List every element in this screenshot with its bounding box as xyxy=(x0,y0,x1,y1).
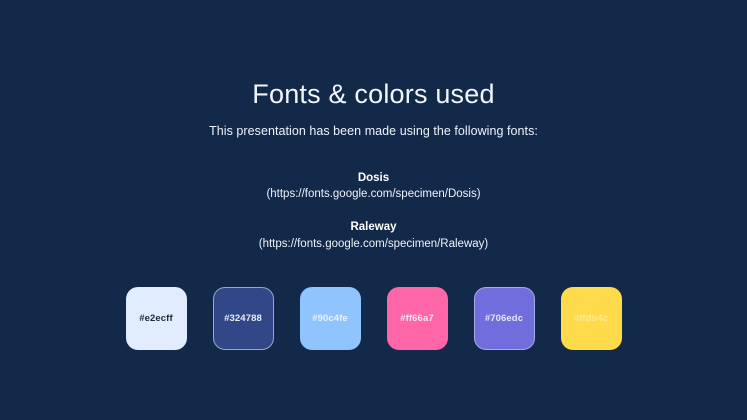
font-entry: Raleway (https://fonts.google.com/specim… xyxy=(259,219,488,252)
color-swatch-label: #ffdb4c xyxy=(574,313,608,324)
color-swatch[interactable]: #ffdb4c xyxy=(561,287,622,350)
color-swatch-label: #706edc xyxy=(485,313,523,324)
color-swatch[interactable]: #e2ecff xyxy=(126,287,187,350)
color-swatch-label: #e2ecff xyxy=(139,313,172,324)
color-swatch-label: #ff66a7 xyxy=(400,313,433,324)
slide-subtitle: This presentation has been made using th… xyxy=(209,124,538,138)
color-swatch[interactable]: #ff66a7 xyxy=(387,287,448,350)
font-url[interactable]: (https://fonts.google.com/specimen/Dosis… xyxy=(266,186,480,203)
slide-canvas: Fonts & colors used This presentation ha… xyxy=(0,0,747,420)
color-swatch[interactable]: #324788 xyxy=(213,287,274,350)
page-title: Fonts & colors used xyxy=(252,80,494,110)
font-name: Dosis xyxy=(266,170,480,187)
color-swatch[interactable]: #90c4fe xyxy=(300,287,361,350)
font-url[interactable]: (https://fonts.google.com/specimen/Ralew… xyxy=(259,236,488,253)
slide-content: Fonts & colors used This presentation ha… xyxy=(0,0,747,420)
color-swatch-label: #324788 xyxy=(224,313,262,324)
font-name: Raleway xyxy=(259,219,488,236)
font-entry: Dosis (https://fonts.google.com/specimen… xyxy=(266,170,480,203)
color-swatch-row: #e2ecff #324788 #90c4fe #ff66a7 #706edc … xyxy=(0,287,747,350)
color-swatch[interactable]: #706edc xyxy=(474,287,535,350)
color-swatch-label: #90c4fe xyxy=(312,313,348,324)
